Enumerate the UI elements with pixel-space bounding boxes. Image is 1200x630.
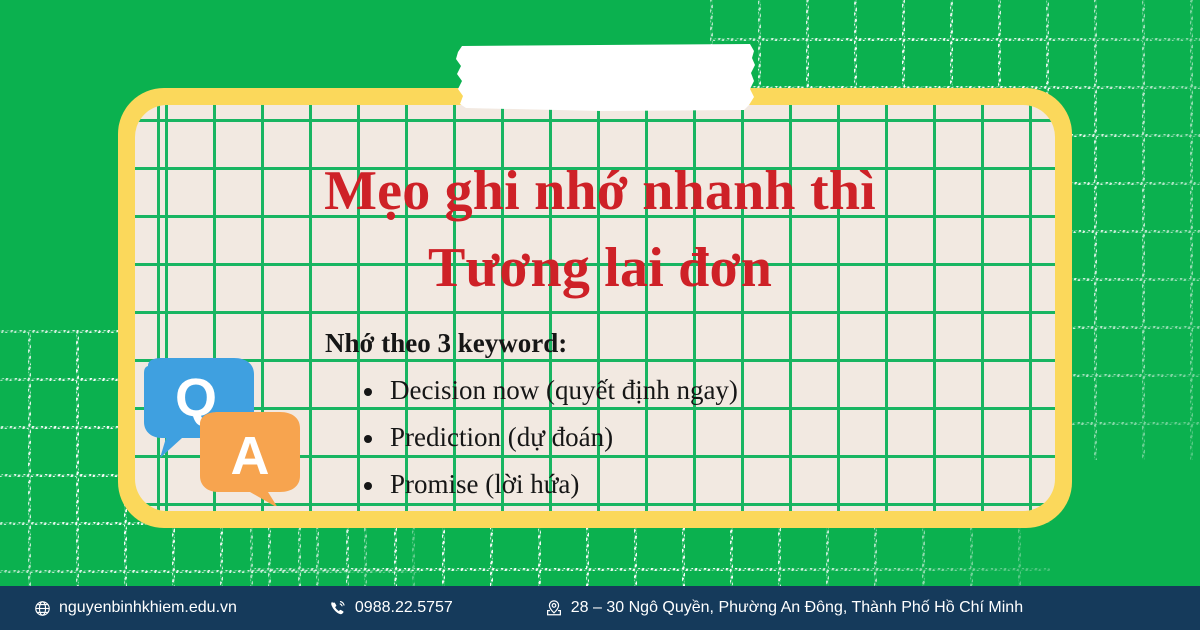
footer-phone-text: 0988.22.5757 [355, 599, 453, 617]
footer-bar: nguyenbinhkhiem.edu.vn 0988.22.5757 [0, 586, 1200, 630]
list-item: Promise (lời hứa) [360, 461, 1050, 508]
svg-text:A: A [231, 426, 270, 486]
phone-icon [329, 599, 347, 617]
footer-address[interactable]: 28 – 30 Ngô Quyền, Phường An Đông, Thành… [545, 599, 1023, 617]
poster-canvas: Q A Mẹo ghi nhớ nhanh thì Tương lai đơn … [0, 0, 1200, 630]
list-item: Decision now (quyết định ngay) [360, 367, 1050, 414]
footer-address-text: 28 – 30 Ngô Quyền, Phường An Đông, Thành… [571, 599, 1023, 617]
page-title: Mẹo ghi nhớ nhanh thì Tương lai đơn [150, 105, 1050, 308]
title-line-1: Mẹo ghi nhớ nhanh thì [324, 160, 876, 222]
location-pin-icon [545, 599, 563, 617]
a-speech-bubble-icon: A [200, 412, 300, 506]
qa-speech-bubbles-icon: Q A [138, 358, 303, 506]
subheading: Nhớ theo 3 keyword: [325, 326, 1050, 361]
footer-phone[interactable]: 0988.22.5757 [329, 599, 453, 617]
footer-website-text: nguyenbinhkhiem.edu.vn [59, 599, 237, 617]
white-tape-icon [452, 42, 756, 112]
globe-icon [34, 600, 51, 617]
list-item: Prediction (dự đoán) [360, 414, 1050, 461]
footer-website[interactable]: nguyenbinhkhiem.edu.vn [34, 599, 237, 617]
title-line-2: Tương lai đơn [428, 237, 772, 299]
keyword-list: Decision now (quyết định ngay) Predictio… [360, 367, 1050, 508]
